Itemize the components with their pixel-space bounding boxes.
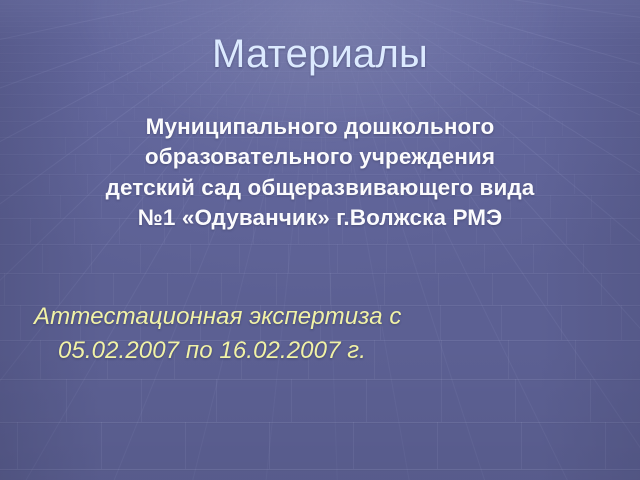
presentation-slide: Материалы Муниципального дошкольного обр… <box>0 0 640 480</box>
organization-name-block: Муниципального дошкольного образовательн… <box>40 112 600 234</box>
organization-line-2: образовательного учреждения <box>40 142 600 172</box>
organization-line-3: детский сад общеразвивающего вида <box>40 173 600 203</box>
organization-line-1: Муниципального дошкольного <box>40 112 600 142</box>
organization-line-4: №1 «Одуванчик» г.Волжска РМЭ <box>40 203 600 233</box>
page-title: Материалы <box>0 31 640 78</box>
examination-period-block: Аттестационная экспертиза с 05.02.2007 п… <box>34 300 534 368</box>
examination-line-2: 05.02.2007 по 16.02.2007 г. <box>34 334 534 368</box>
examination-line-1: Аттестационная экспертиза с <box>34 300 534 334</box>
slide-content: Материалы Муниципального дошкольного обр… <box>0 0 640 480</box>
